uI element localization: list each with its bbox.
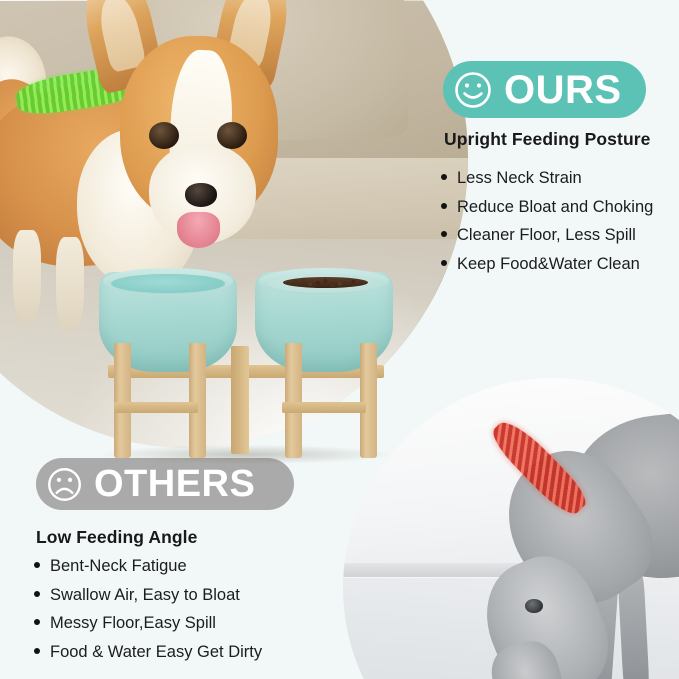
ours-badge-label: OURS: [504, 70, 622, 110]
bullet-dot: [34, 619, 40, 625]
frowning-face-icon: [46, 466, 83, 503]
dog-rear-leg: [56, 237, 85, 330]
bullet-dot: [441, 231, 447, 237]
list-item: Messy Floor,Easy Spill: [34, 615, 262, 632]
dog-right-eye: [217, 122, 247, 149]
list-item-label: Swallow Air, Easy to Bloat: [50, 587, 240, 604]
list-item: Less Neck Strain: [441, 170, 653, 187]
list-item: Bent-Neck Fatigue: [34, 558, 262, 575]
comparison-infographic: OURS Upright Feeding Posture Less Neck S…: [0, 0, 679, 679]
list-item-label: Keep Food&Water Clean: [457, 256, 640, 273]
list-item: Keep Food&Water Clean: [441, 256, 653, 273]
list-item: Cleaner Floor, Less Spill: [441, 227, 653, 244]
dog-nose: [185, 183, 217, 206]
list-item: Reduce Bloat and Choking: [441, 199, 653, 216]
list-item-label: Cleaner Floor, Less Spill: [457, 227, 636, 244]
elevated-double-bowl-stand: [96, 272, 396, 458]
stand-leg: [114, 343, 131, 458]
bullet-dot: [441, 203, 447, 209]
water-surface: [111, 274, 224, 293]
others-badge: OTHERS: [36, 458, 294, 510]
ours-badge: OURS: [443, 61, 646, 118]
list-item-label: Bent-Neck Fatigue: [50, 558, 187, 575]
ours-subtitle: Upright Feeding Posture: [444, 129, 650, 150]
smiley-face-icon: [453, 70, 493, 110]
bullet-dot: [34, 648, 40, 654]
list-item-label: Messy Floor,Easy Spill: [50, 615, 216, 632]
list-item-label: Reduce Bloat and Choking: [457, 199, 653, 216]
bullet-dot: [34, 562, 40, 568]
list-item: Swallow Air, Easy to Bloat: [34, 587, 262, 604]
stand-cross-rail: [114, 402, 198, 413]
ours-benefit-list: Less Neck Strain Reduce Bloat and Chokin…: [441, 170, 653, 284]
bullet-dot: [441, 174, 447, 180]
bullet-dot: [441, 260, 447, 266]
dog-front-leg: [13, 230, 42, 323]
others-subtitle: Low Feeding Angle: [36, 527, 197, 548]
stand-center-post: [231, 346, 249, 454]
bullet-dot: [34, 591, 40, 597]
greyscale-dog: [410, 399, 679, 679]
stand-leg: [360, 343, 377, 458]
kibble-food: [283, 277, 369, 288]
stand-leg: [285, 343, 302, 458]
list-item-label: Food & Water Easy Get Dirty: [50, 644, 262, 661]
list-item: Food & Water Easy Get Dirty: [34, 644, 262, 661]
others-drawback-list: Bent-Neck Fatigue Swallow Air, Easy to B…: [34, 558, 262, 672]
stand-cross-rail: [282, 402, 366, 413]
list-item-label: Less Neck Strain: [457, 170, 582, 187]
others-badge-label: OTHERS: [94, 465, 255, 503]
dog-tongue: [177, 212, 220, 248]
dog-left-eye: [149, 122, 179, 149]
stand-leg: [189, 343, 206, 458]
